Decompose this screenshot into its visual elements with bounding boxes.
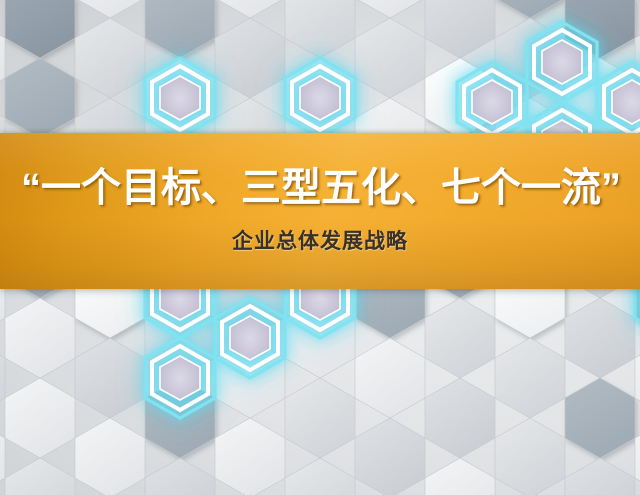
title-slide: “一个目标、三型五化、七个一流” 企业总体发展战略 [0, 0, 640, 495]
title-banner: “一个目标、三型五化、七个一流” 企业总体发展战略 [0, 133, 640, 289]
slide-subtitle: 企业总体发展战略 [232, 225, 408, 255]
banner-content: “一个目标、三型五化、七个一流” 企业总体发展战略 [0, 133, 640, 289]
slide-title: “一个目标、三型五化、七个一流” [19, 167, 621, 209]
